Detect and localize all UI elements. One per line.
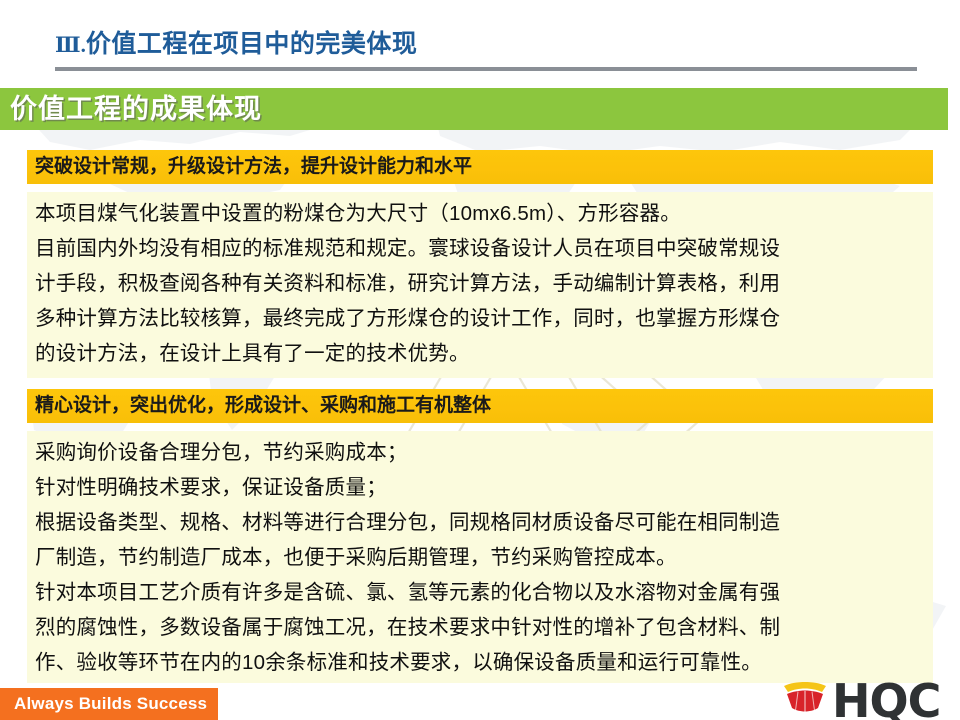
section-header-2: 精心设计，突出优化，形成设计、采购和施工有机整体: [27, 389, 933, 423]
body-line: 本项目煤气化装置中设置的粉煤仓为大尺寸（10mx6.5m）、方形容器。: [35, 196, 923, 231]
body-line: 烈的腐蚀性，多数设备属于腐蚀工况，在技术要求中针对性的增补了包含材料、制: [35, 610, 923, 645]
body-line: 多种计算方法比较核算，最终完成了方形煤仓的设计工作，同时，也掌握方形煤仓: [35, 301, 923, 336]
company-emblem-icon: [782, 682, 828, 714]
body-line: 的设计方法，在设计上具有了一定的技术优势。: [35, 336, 923, 371]
section-body-2: 采购询价设备合理分包，节约采购成本； 针对性明确技术要求，保证设备质量； 根据设…: [27, 431, 933, 683]
footer-tagline-strip: Always Builds Success: [0, 688, 218, 720]
page-title-numeral: Ⅲ.: [55, 33, 86, 57]
footer-tagline-text: Always Builds Success: [0, 688, 218, 720]
section-header-1: 突破设计常规，升级设计方法，提升设计能力和水平: [27, 150, 933, 184]
body-line: 针对本项目工艺介质有许多是含硫、氯、氢等元素的化合物以及水溶物对金属有强: [35, 575, 923, 610]
brand-logo: HQC: [782, 680, 960, 720]
slide-canvas: Ⅲ.价值工程在项目中的完美体现 价值工程的成果体现 突破设计常规，升级设计方法，…: [0, 0, 960, 720]
section-band-label: 价值工程的成果体现: [10, 90, 262, 128]
body-line: 采购询价设备合理分包，节约采购成本；: [35, 435, 923, 470]
body-line: 作、验收等环节在内的10余条标准和技术要求，以确保设备质量和运行可靠性。: [35, 645, 923, 680]
body-line: 目前国内外均没有相应的标准规范和规定。寰球设备设计人员在项目中突破常规设: [35, 231, 923, 266]
body-line: 计手段，积极查阅各种有关资料和标准，研究计算方法，手动编制计算表格，利用: [35, 266, 923, 301]
brand-wordmark: HQC: [832, 678, 940, 720]
page-title-text: 价值工程在项目中的完美体现: [86, 31, 418, 58]
page-title: Ⅲ.价值工程在项目中的完美体现: [55, 24, 915, 60]
title-divider-rule: [55, 67, 917, 71]
section-body-1: 本项目煤气化装置中设置的粉煤仓为大尺寸（10mx6.5m）、方形容器。 目前国内…: [27, 192, 933, 378]
body-line: 针对性明确技术要求，保证设备质量；: [35, 470, 923, 505]
body-line: 根据设备类型、规格、材料等进行合理分包，同规格同材质设备尽可能在相同制造: [35, 505, 923, 540]
body-line: 厂制造，节约制造厂成本，也便于采购后期管理，节约采购管控成本。: [35, 540, 923, 575]
